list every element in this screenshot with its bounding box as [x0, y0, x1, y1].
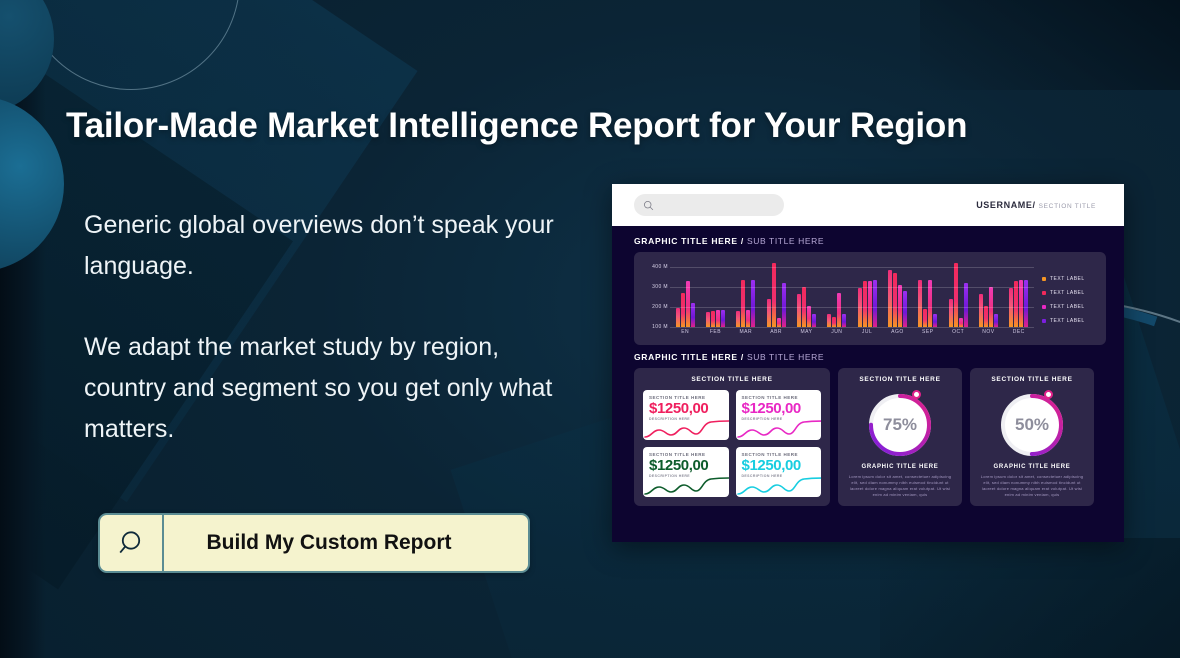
bar	[706, 312, 710, 327]
x-tick-label: ABR	[761, 329, 791, 335]
y-tick-label: 200 M	[652, 304, 668, 310]
donut-value: 75%	[867, 392, 933, 458]
content-column: Tailor-Made Market Intelligence Report f…	[0, 0, 612, 658]
x-tick-label: FEB	[700, 329, 730, 335]
chart-title-main: GRAPHIC TITLE HERE	[634, 236, 738, 246]
x-tick-label: MAR	[731, 329, 761, 335]
build-custom-report-button[interactable]: Build My Custom Report	[98, 513, 530, 573]
donut-card-1: SECTION TITLE HERE75%GRAPHIC TITLE HEREL…	[838, 368, 962, 506]
donut-chart: 75%	[867, 392, 933, 458]
bar	[777, 318, 781, 327]
bar	[797, 294, 801, 327]
dashboard-topbar: USERNAME/ SECTION TITLE	[612, 184, 1124, 226]
bar-chart: 100 M200 M300 M400 M ENFEBMARABRMAYJUNJU…	[642, 261, 1036, 339]
x-tick-label: DEC	[1004, 329, 1034, 335]
username-label: USERNAME/	[976, 200, 1035, 210]
x-tick-label: OCT	[943, 329, 973, 335]
y-tick-label: 100 M	[652, 324, 668, 330]
bar-chart-panel: 100 M200 M300 M400 M ENFEBMARABRMAYJUNJU…	[634, 252, 1106, 345]
y-axis-labels: 100 M200 M300 M400 M	[642, 261, 668, 327]
bar	[964, 283, 968, 327]
bar	[949, 299, 953, 327]
chart-section-title: GRAPHIC TITLE HERE / SUB TITLE HERE	[634, 236, 1106, 246]
metric-value: $1250,00	[649, 400, 723, 417]
search-input[interactable]	[634, 194, 784, 216]
donut-body-text: Lorem ipsum dolor sit amet, consectetuer…	[979, 474, 1085, 498]
x-tick-label: EN	[670, 329, 700, 335]
bar	[959, 318, 963, 327]
bar	[807, 306, 811, 327]
legend-label: TEXT LABEL	[1050, 318, 1085, 324]
bar	[933, 314, 937, 327]
metric-card[interactable]: SECTION TITLE HERE$1250,00DESCRIPTION HE…	[736, 447, 822, 497]
legend-swatch	[1042, 291, 1046, 295]
metrics-card: SECTION TITLE HERE SECTION TITLE HERE$12…	[634, 368, 830, 506]
donut-graphic-title: GRAPHIC TITLE HERE	[994, 464, 1071, 470]
search-icon	[643, 200, 654, 211]
gridline	[670, 267, 1034, 268]
metric-value: $1250,00	[742, 400, 816, 417]
donut-card-title: SECTION TITLE HERE	[859, 376, 940, 383]
legend-label: TEXT LABEL	[1050, 304, 1085, 310]
legend-swatch	[1042, 305, 1046, 309]
donut-graphic-title: GRAPHIC TITLE HERE	[862, 464, 939, 470]
metrics-card-title: SECTION TITLE HERE	[643, 376, 821, 383]
metric-card[interactable]: SECTION TITLE HERE$1250,00DESCRIPTION HE…	[643, 390, 729, 440]
sparkline-chart	[736, 418, 822, 440]
x-tick-label: SEP	[913, 329, 943, 335]
x-tick-label: JUN	[822, 329, 852, 335]
legend-swatch	[1042, 277, 1046, 281]
gridline	[670, 287, 1034, 288]
bar	[903, 291, 907, 327]
bar-group	[882, 270, 912, 327]
search-icon	[100, 515, 164, 571]
legend-label: TEXT LABEL	[1050, 276, 1085, 282]
bar	[837, 293, 841, 327]
chart-legend: TEXT LABELTEXT LABELTEXT LABELTEXT LABEL	[1036, 261, 1098, 339]
bar	[716, 310, 720, 327]
metric-card[interactable]: SECTION TITLE HERE$1250,00DESCRIPTION HE…	[736, 390, 822, 440]
metric-card[interactable]: SECTION TITLE HERE$1250,00DESCRIPTION HE…	[643, 447, 729, 497]
bar	[721, 310, 725, 327]
bar-group	[822, 293, 852, 327]
legend-item[interactable]: TEXT LABEL	[1042, 304, 1098, 310]
bar	[994, 314, 998, 327]
sparkline-chart	[643, 475, 729, 497]
metric-value: $1250,00	[649, 457, 723, 474]
paragraph-1: Generic global overviews don’t speak you…	[84, 205, 584, 287]
bar	[736, 311, 740, 327]
bar	[767, 299, 771, 327]
plot-area	[670, 261, 1034, 327]
metrics-grid: SECTION TITLE HERE$1250,00DESCRIPTION HE…	[643, 390, 821, 497]
cards-subtitle: SUB TITLE HERE	[747, 352, 824, 362]
section-label: SECTION TITLE	[1039, 203, 1096, 210]
bar	[676, 308, 680, 327]
chart-subtitle: SUB TITLE HERE	[747, 236, 824, 246]
bar	[984, 306, 988, 327]
bar	[842, 314, 846, 327]
dashboard-mockup: USERNAME/ SECTION TITLE GRAPHIC TITLE HE…	[612, 184, 1124, 542]
bar	[923, 309, 927, 327]
bar	[888, 270, 892, 327]
legend-item[interactable]: TEXT LABEL	[1042, 318, 1098, 324]
donut-card-2: SECTION TITLE HERE50%GRAPHIC TITLE HEREL…	[970, 368, 1094, 506]
y-tick-label: 300 M	[652, 284, 668, 290]
cards-title-separator: /	[741, 352, 744, 362]
legend-label: TEXT LABEL	[1050, 290, 1085, 296]
bar-group	[761, 263, 791, 327]
bar	[782, 283, 786, 327]
bar	[893, 273, 897, 327]
bar-group	[943, 263, 973, 327]
background-dark-bottom-right	[880, 538, 1180, 658]
legend-swatch	[1042, 319, 1046, 323]
dashboard-body: GRAPHIC TITLE HERE / SUB TITLE HERE 100 …	[612, 226, 1124, 506]
cta-label: Build My Custom Report	[164, 531, 528, 555]
page-title: Tailor-Made Market Intelligence Report f…	[66, 106, 1066, 146]
gridline	[670, 307, 1034, 308]
x-tick-label: MAY	[791, 329, 821, 335]
user-breadcrumb[interactable]: USERNAME/ SECTION TITLE	[976, 200, 1110, 210]
bar-groups	[670, 261, 1034, 327]
donut-value: 50%	[999, 392, 1065, 458]
metric-value: $1250,00	[742, 457, 816, 474]
y-tick-label: 400 M	[652, 264, 668, 270]
x-tick-label: AGO	[882, 329, 912, 335]
bar	[979, 294, 983, 327]
bar	[746, 310, 750, 327]
lower-cards-row: SECTION TITLE HERE SECTION TITLE HERE$12…	[634, 368, 1106, 506]
chart-title-separator: /	[741, 236, 744, 246]
legend-item[interactable]: TEXT LABEL	[1042, 290, 1098, 296]
bar	[681, 293, 685, 327]
bar	[711, 311, 715, 327]
legend-item[interactable]: TEXT LABEL	[1042, 276, 1098, 282]
sparkline-chart	[736, 475, 822, 497]
x-tick-label: JUL	[852, 329, 882, 335]
sparkline-chart	[643, 418, 729, 440]
background-dark-top-right	[920, 0, 1180, 90]
donut-body-text: Lorem ipsum dolor sit amet, consectetuer…	[847, 474, 953, 498]
gridline	[670, 327, 1034, 328]
bar	[812, 314, 816, 327]
bar	[832, 317, 836, 327]
cards-section-title: GRAPHIC TITLE HERE / SUB TITLE HERE	[634, 352, 1106, 362]
donut-card-title: SECTION TITLE HERE	[991, 376, 1072, 383]
bar	[954, 263, 958, 327]
paragraph-2: We adapt the market study by region, cou…	[84, 327, 584, 450]
donut-chart: 50%	[999, 392, 1065, 458]
x-axis-labels: ENFEBMARABRMAYJUNJULAGOSEPOCTNOVDEC	[670, 329, 1034, 335]
bar	[772, 263, 776, 327]
bar	[827, 314, 831, 327]
bar	[898, 285, 902, 327]
bar-group	[700, 310, 730, 327]
cards-title-main: GRAPHIC TITLE HERE	[634, 352, 738, 362]
x-tick-label: NOV	[973, 329, 1003, 335]
